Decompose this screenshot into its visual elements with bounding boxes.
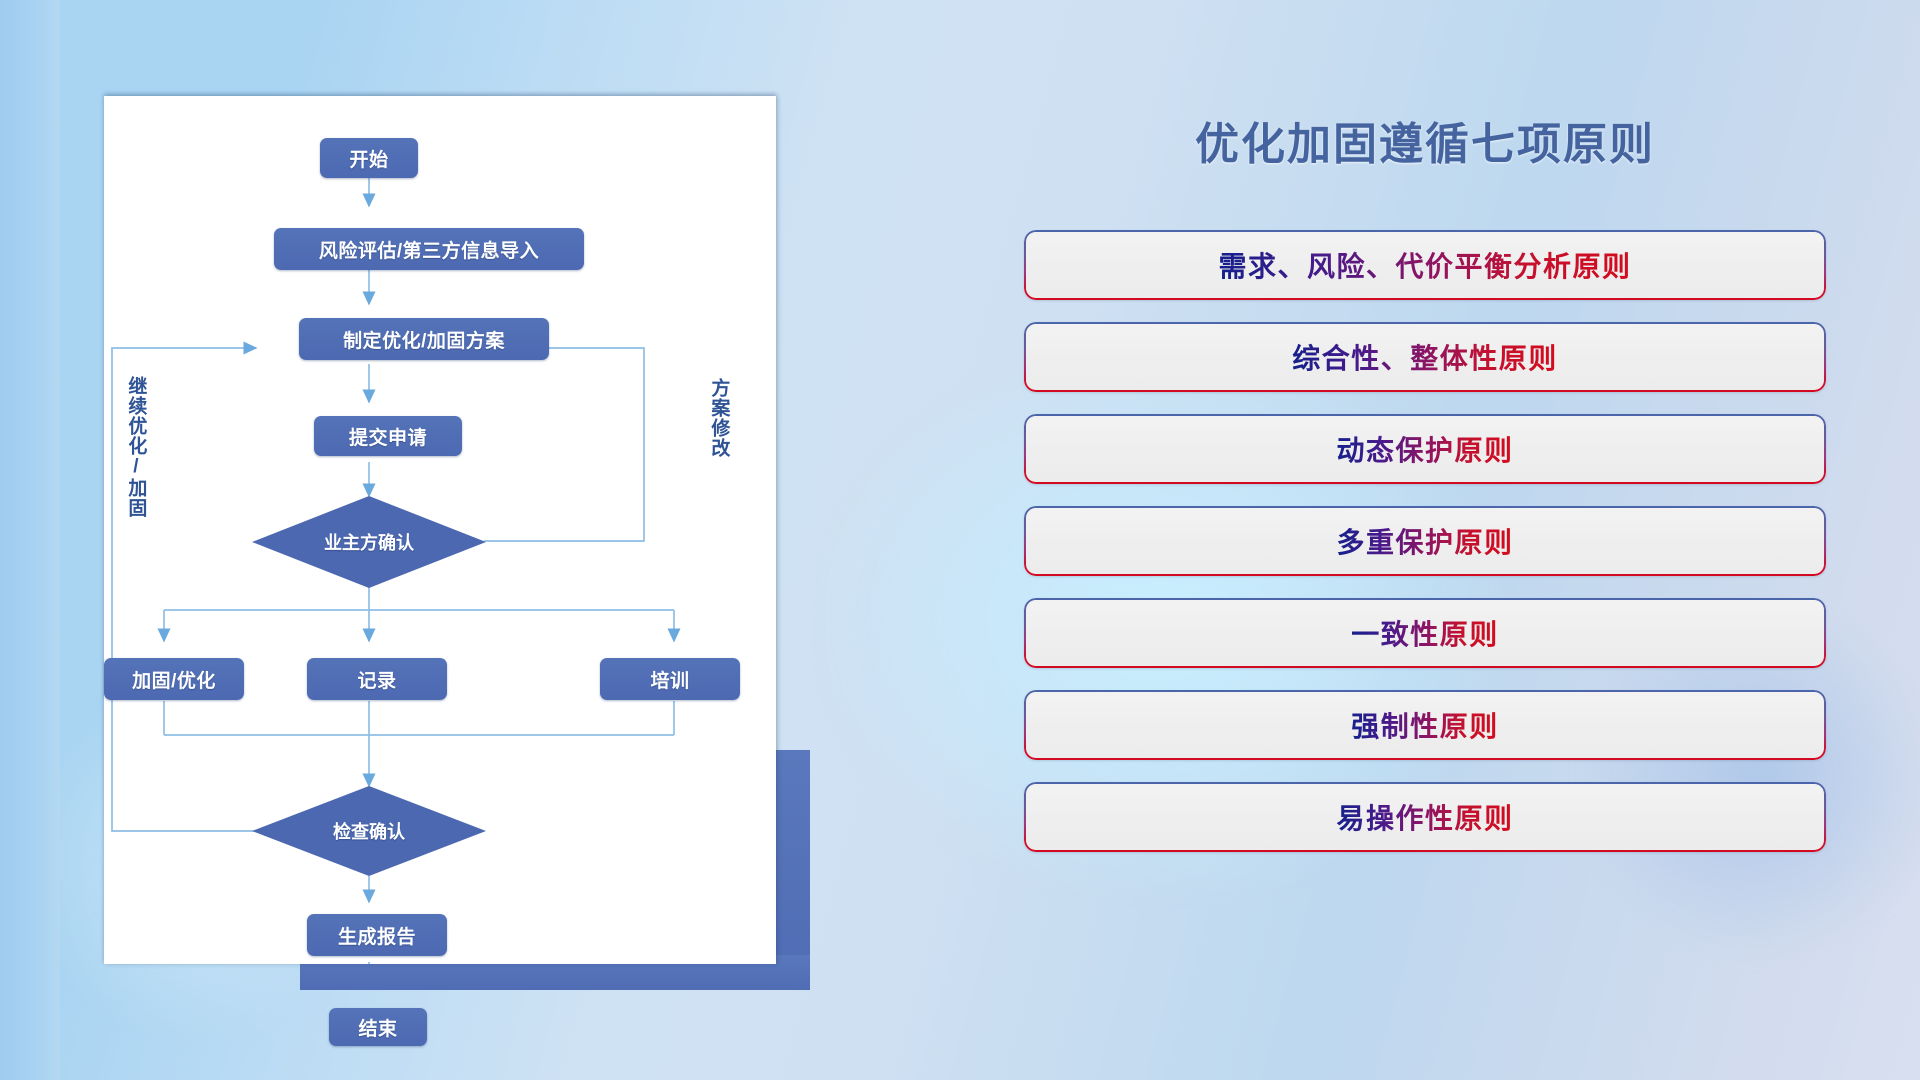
flow-node-plan-label: 制定优化/加固方案 xyxy=(343,326,505,353)
flow-node-reinforce[interactable]: 加固/优化 xyxy=(104,658,244,700)
flow-node-owner-confirm[interactable]: 业主方确认 xyxy=(252,496,486,588)
flow-node-training[interactable]: 培训 xyxy=(600,658,740,700)
flow-node-reinforce-label: 加固/优化 xyxy=(132,666,216,693)
flow-node-check-confirm[interactable]: 检查确认 xyxy=(252,786,486,876)
principle-item[interactable]: 动态保护原则 xyxy=(1024,414,1826,484)
principles-list: 需求、风险、代价平衡分析原则 综合性、整体性原则 动态保护原则 多重保护原则 一… xyxy=(1024,230,1826,874)
flow-node-start-label: 开始 xyxy=(349,145,388,172)
flow-node-check-confirm-label: 检查确认 xyxy=(333,818,405,844)
flow-node-record[interactable]: 记录 xyxy=(307,658,447,700)
flow-edge-label-right-loop: 方案修改 xyxy=(709,378,728,458)
background-left-stripe xyxy=(0,0,60,1080)
principle-item[interactable]: 多重保护原则 xyxy=(1024,506,1826,576)
flowchart-card: 开始 风险评估/第三方信息导入 制定优化/加固方案 提交申请 业主方确认 加固/… xyxy=(104,96,776,964)
flow-node-plan[interactable]: 制定优化/加固方案 xyxy=(299,318,549,360)
principle-label: 动态保护原则 xyxy=(1336,429,1513,469)
flow-node-submit-label: 提交申请 xyxy=(349,423,427,450)
principle-label: 易操作性原则 xyxy=(1336,797,1513,837)
flow-node-training-label: 培训 xyxy=(650,666,689,693)
flow-node-report-label: 生成报告 xyxy=(338,922,416,949)
principle-label: 多重保护原则 xyxy=(1336,521,1513,561)
flow-edge-label-left-loop: 继续优化/加固 xyxy=(126,376,145,518)
flow-node-owner-confirm-label: 业主方确认 xyxy=(324,529,414,555)
flow-node-record-label: 记录 xyxy=(357,666,396,693)
principle-label: 一致性原则 xyxy=(1351,613,1499,653)
principles-panel-title: 优化加固遵循七项原则 xyxy=(1010,108,1840,172)
flow-node-submit[interactable]: 提交申请 xyxy=(314,416,462,456)
flow-node-start[interactable]: 开始 xyxy=(320,138,418,178)
flow-node-risk-label: 风险评估/第三方信息导入 xyxy=(319,236,539,263)
flow-node-end[interactable]: 结束 xyxy=(329,1008,427,1046)
principle-label: 需求、风险、代价平衡分析原则 xyxy=(1218,245,1631,285)
principle-item[interactable]: 综合性、整体性原则 xyxy=(1024,322,1826,392)
principle-item[interactable]: 易操作性原则 xyxy=(1024,782,1826,852)
principle-item[interactable]: 需求、风险、代价平衡分析原则 xyxy=(1024,230,1826,300)
principle-item[interactable]: 一致性原则 xyxy=(1024,598,1826,668)
flow-node-risk[interactable]: 风险评估/第三方信息导入 xyxy=(274,228,584,270)
principle-label: 综合性、整体性原则 xyxy=(1292,337,1558,377)
flow-node-end-label: 结束 xyxy=(358,1014,397,1041)
principle-item[interactable]: 强制性原则 xyxy=(1024,690,1826,760)
principle-label: 强制性原则 xyxy=(1351,705,1499,745)
principles-panel: 优化加固遵循七项原则 需求、风险、代价平衡分析原则 综合性、整体性原则 动态保护… xyxy=(1010,80,1840,1020)
flow-node-report[interactable]: 生成报告 xyxy=(307,914,447,956)
